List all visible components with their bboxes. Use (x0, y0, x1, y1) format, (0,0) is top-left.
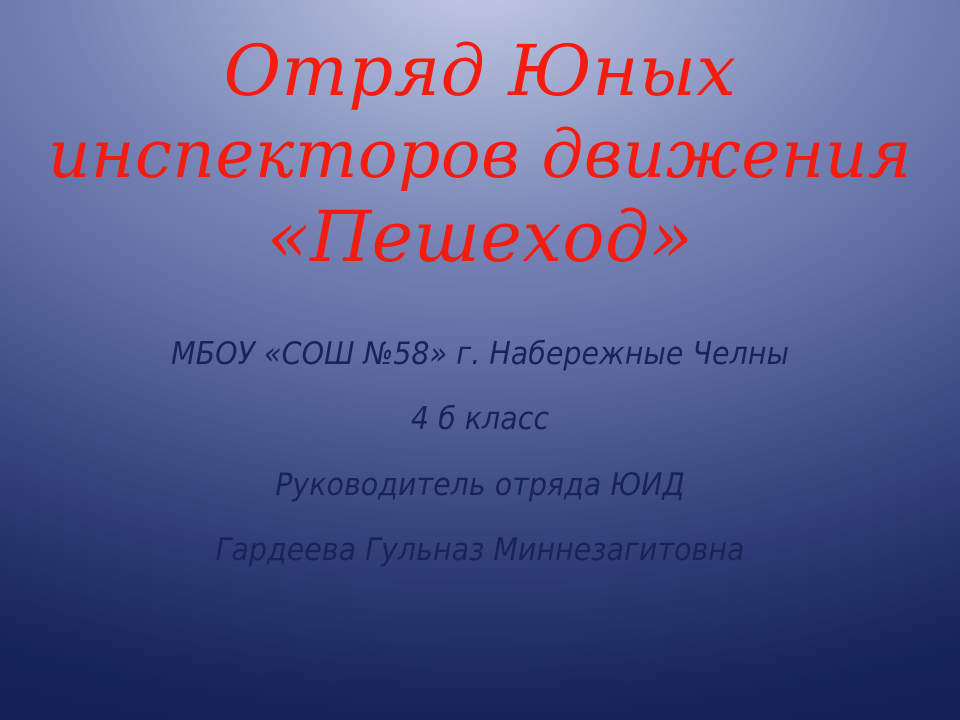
subtitle-line-class: 4 б класс (66, 399, 894, 439)
slide-subtitle: МБОУ «СОШ №58» г. Набережные Челны 4 б к… (30, 334, 930, 570)
slide-title: Отряд Юных инспекторов движения «Пешеход… (40, 36, 920, 272)
title-line-3: «Пешеход» (40, 202, 920, 272)
title-line-1: Отряд Юных (40, 36, 920, 106)
slide-content: Отряд Юных инспекторов движения «Пешеход… (0, 0, 960, 720)
subtitle-line-school: МБОУ «СОШ №58» г. Набережные Челны (66, 334, 894, 374)
subtitle-line-role: Руководитель отряда ЮИД (66, 465, 894, 505)
subtitle-line-author: Гардеева Гульназ Миннезагитовна (66, 530, 894, 570)
title-line-2: инспекторов движения (40, 122, 920, 188)
presentation-slide: Отряд Юных инспекторов движения «Пешеход… (0, 0, 960, 720)
